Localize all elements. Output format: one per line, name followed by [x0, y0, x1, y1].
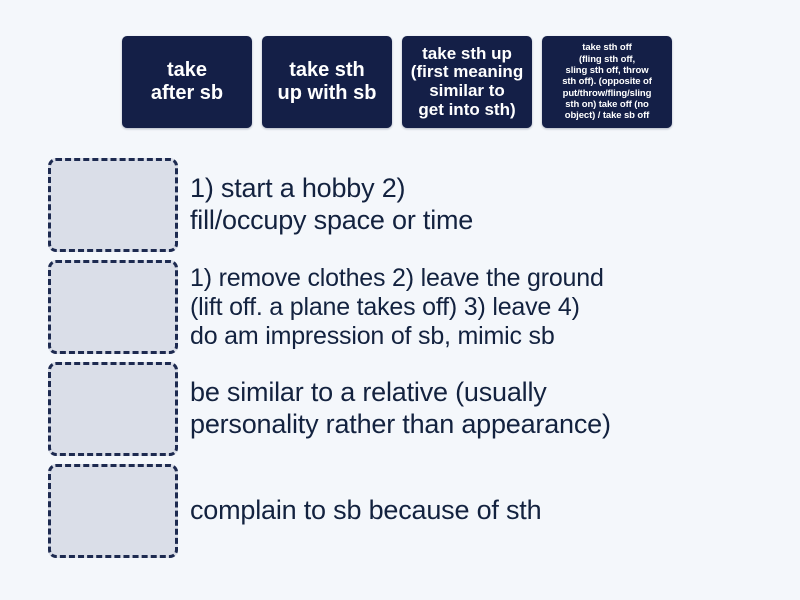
answer-text-4: complain to sb because of sth: [190, 495, 541, 527]
answer-text-2: 1) remove clothes 2) leave the ground (l…: [190, 264, 604, 351]
dropzone-3[interactable]: [48, 362, 178, 456]
answer-text-3: be similar to a relative (usually person…: [190, 377, 611, 440]
draggable-card-take-sth-off[interactable]: take sth off (fling sth off, sling sth o…: [542, 36, 672, 128]
match-row: 1) start a hobby 2) fill/occupy space or…: [48, 158, 792, 252]
draggable-cards-row: take after sb take sth up with sb take s…: [122, 36, 678, 128]
dropzone-1[interactable]: [48, 158, 178, 252]
dropzone-4[interactable]: [48, 464, 178, 558]
match-row: 1) remove clothes 2) leave the ground (l…: [48, 260, 792, 354]
draggable-card-take-after-sb[interactable]: take after sb: [122, 36, 252, 128]
match-row: complain to sb because of sth: [48, 464, 792, 558]
answer-text-1: 1) start a hobby 2) fill/occupy space or…: [190, 173, 473, 236]
match-rows-list: 1) start a hobby 2) fill/occupy space or…: [48, 158, 792, 566]
draggable-card-take-sth-up[interactable]: take sth up (first meaning similar to ge…: [402, 36, 532, 128]
match-row: be similar to a relative (usually person…: [48, 362, 792, 456]
dropzone-2[interactable]: [48, 260, 178, 354]
draggable-card-take-sth-up-with-sb[interactable]: take sth up with sb: [262, 36, 392, 128]
match-up-activity-page: { "theme": { "background": "#f4f7fb", "c…: [0, 0, 800, 600]
